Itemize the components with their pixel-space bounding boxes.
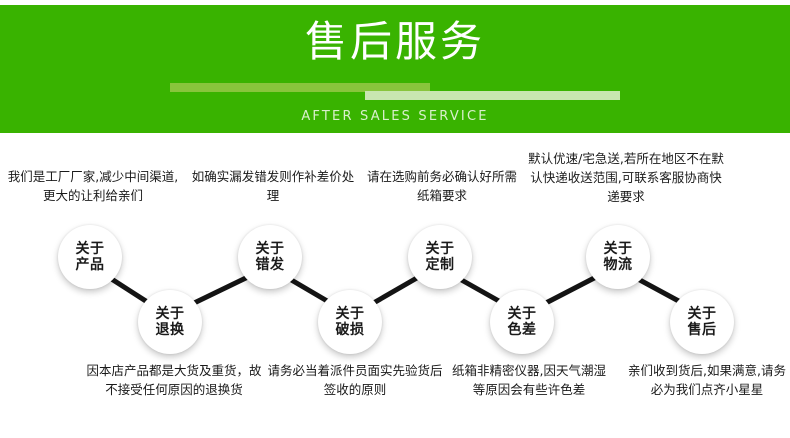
caption-about-product: 我们是工厂厂家,减少中间渠道,更大的让利给亲们 [4, 167, 182, 205]
caption-about-color-difference: 纸箱非精密仪器,因天气潮湿等原因会有些许色差 [446, 361, 612, 399]
node-about-wrong-shipment[interactable]: 关于 错发 [238, 225, 302, 289]
node-label-line1: 关于 [156, 306, 185, 322]
node-about-aftersales[interactable]: 关于 售后 [670, 290, 734, 354]
node-label-line2: 色差 [508, 322, 537, 338]
node-label-line1: 关于 [426, 241, 455, 257]
node-label-line2: 破损 [336, 322, 365, 338]
node-label-line1: 关于 [76, 241, 105, 257]
node-label-line2: 产品 [76, 257, 105, 273]
node-about-customization[interactable]: 关于 定制 [408, 225, 472, 289]
caption-about-wrong-shipment: 如确实漏发错发则作补差价处理 [188, 167, 358, 205]
node-label-line1: 关于 [336, 306, 365, 322]
node-label-line2: 退换 [156, 322, 185, 338]
connector-2 [190, 275, 252, 305]
caption-about-logistics: 默认优速/宅急送,若所在地区不在默认快递收送范围,可联系客服协商快递要求 [528, 149, 724, 206]
node-label-line2: 错发 [256, 257, 285, 273]
caption-about-customization: 请在选购前务必确认好所需纸箱要求 [362, 167, 522, 205]
page-subtitle: AFTER SALES SERVICE [0, 108, 790, 126]
service-flow-diagram: 关于 产品 关于 退换 关于 错发 关于 破损 关于 定制 关于 色差 关于 物… [0, 133, 790, 438]
caption-about-return: 因本店产品都是大货及重货，故不接受任何原因的退换货 [84, 361, 264, 399]
connector-6 [542, 275, 600, 305]
node-label-line2: 物流 [604, 257, 633, 273]
node-label-line1: 关于 [508, 306, 537, 322]
node-label-line1: 关于 [604, 241, 633, 257]
caption-about-damage: 请务必当着派件员面实先验货后签收的原则 [266, 361, 444, 399]
decorative-bar-light [365, 91, 620, 100]
node-label-line2: 售后 [688, 322, 717, 338]
after-sales-service-page: 售后服务 AFTER SALES SERVICE 关于 产品 关于 退换 [0, 0, 790, 438]
node-label-line1: 关于 [688, 306, 717, 322]
page-title: 售后服务 [0, 17, 790, 67]
connector-4 [370, 275, 422, 305]
node-about-return[interactable]: 关于 退换 [138, 290, 202, 354]
node-about-product[interactable]: 关于 产品 [58, 225, 122, 289]
node-about-damage[interactable]: 关于 破损 [318, 290, 382, 354]
caption-about-aftersales: 亲们收到货后,如果满意,请务必为我们点齐小星星 [624, 361, 790, 399]
header-banner: 售后服务 AFTER SALES SERVICE [0, 5, 790, 133]
node-about-logistics[interactable]: 关于 物流 [586, 225, 650, 289]
node-label-line1: 关于 [256, 241, 285, 257]
node-about-color-difference[interactable]: 关于 色差 [490, 290, 554, 354]
node-label-line2: 定制 [426, 257, 455, 273]
